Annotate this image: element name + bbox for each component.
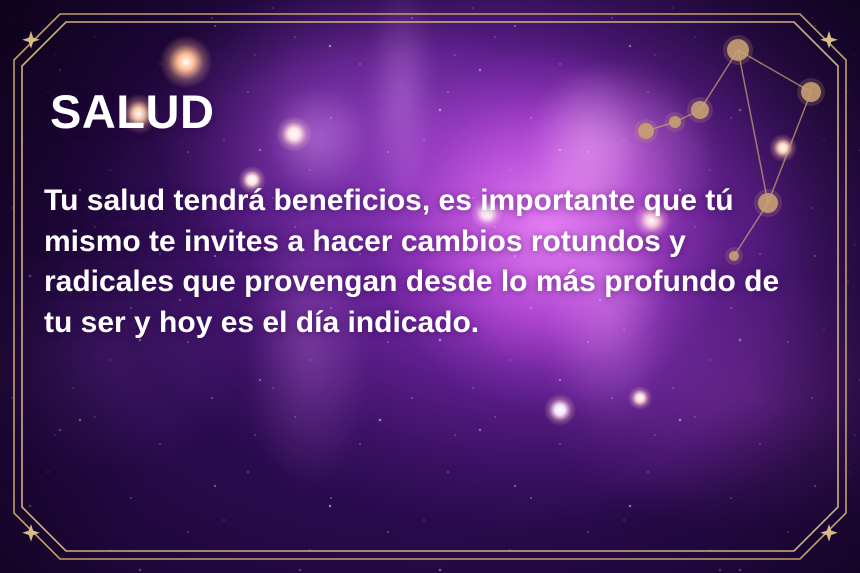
sparkle-icon-bottom-right (820, 524, 838, 542)
sparkle-icon-bottom-left (22, 524, 40, 542)
text-content-block: SALUD Tu salud tendrá beneficios, es imp… (44, 88, 834, 343)
horoscope-body-text: Tu salud tendrá beneficios, es important… (44, 181, 814, 343)
page-title: SALUD (50, 88, 834, 135)
horoscope-card: SALUD Tu salud tendrá beneficios, es imp… (0, 0, 860, 573)
sparkle-icon-top-left (22, 31, 40, 49)
sparkle-icon-top-right (820, 31, 838, 49)
